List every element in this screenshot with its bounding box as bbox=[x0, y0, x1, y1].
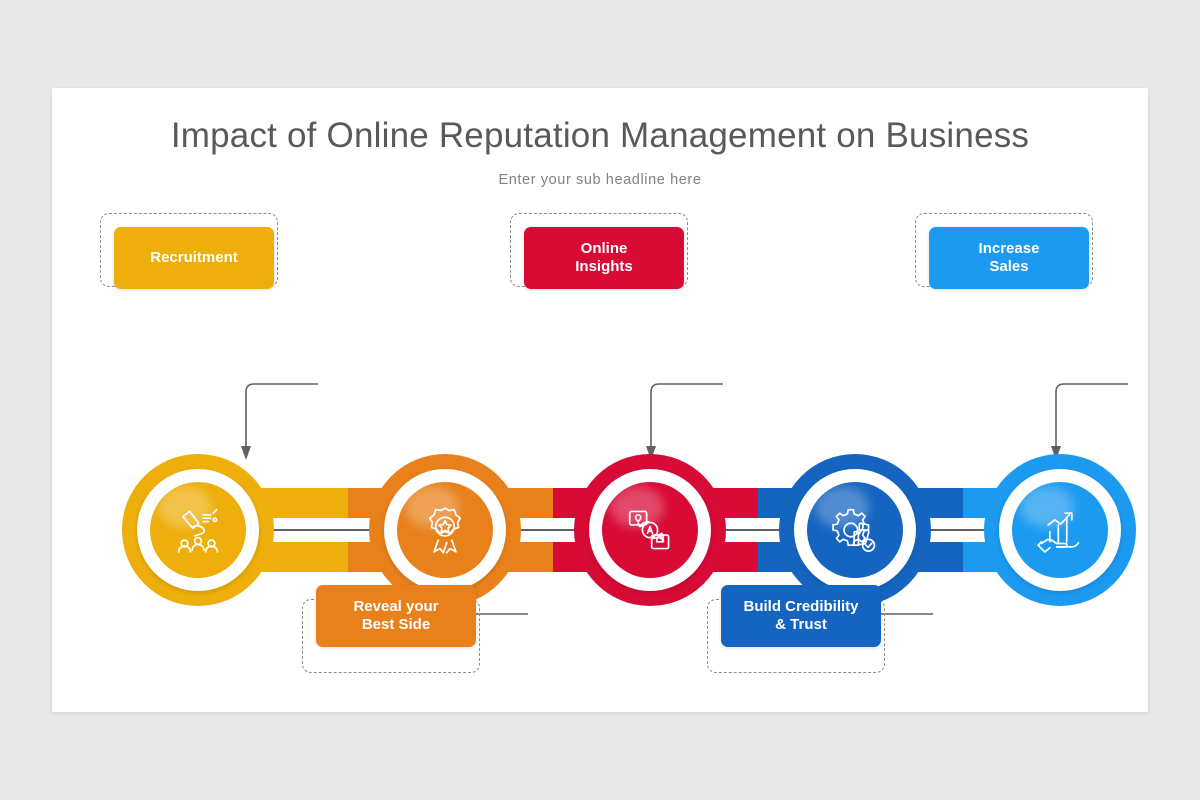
label-increase-sales[interactable]: Increase Sales bbox=[915, 213, 1105, 299]
label-line: Sales bbox=[979, 258, 1040, 276]
node-inner bbox=[1012, 482, 1108, 578]
node-inner bbox=[150, 482, 246, 578]
label-recruitment[interactable]: Recruitment bbox=[100, 213, 290, 299]
step-node-reveal-best-side[interactable] bbox=[369, 454, 521, 606]
award-ribbon-icon bbox=[397, 482, 493, 578]
step-node-build-credibility[interactable] bbox=[779, 454, 931, 606]
label-line: Reveal your bbox=[353, 598, 438, 616]
label-chip[interactable]: Build Credibility & Trust bbox=[721, 585, 881, 647]
step-node-increase-sales[interactable] bbox=[984, 454, 1136, 606]
step-node-recruitment[interactable] bbox=[122, 454, 274, 606]
label-line: Online bbox=[575, 240, 633, 258]
page-title: Impact of Online Reputation Management o… bbox=[52, 116, 1148, 156]
label-line: Build Credibility bbox=[743, 598, 858, 616]
label-chip[interactable]: Increase Sales bbox=[929, 227, 1089, 289]
label-line: Insights bbox=[575, 258, 633, 276]
insights-cards-cycle-icon bbox=[602, 482, 698, 578]
hand-growth-chart-icon bbox=[1012, 482, 1108, 578]
node-inner bbox=[602, 482, 698, 578]
label-chip[interactable]: Recruitment bbox=[114, 227, 274, 289]
label-line: & Trust bbox=[743, 616, 858, 634]
label-online-insights[interactable]: Online Insights bbox=[510, 213, 700, 299]
gear-thumbs-up-check-icon bbox=[807, 482, 903, 578]
step-node-online-insights[interactable] bbox=[574, 454, 726, 606]
label-line: Increase bbox=[979, 240, 1040, 258]
label-chip[interactable]: Online Insights bbox=[524, 227, 684, 289]
connector-increase-sales bbox=[1002, 380, 1132, 466]
label-reveal-best-side[interactable]: Reveal your Best Side bbox=[302, 585, 492, 671]
label-build-credibility[interactable]: Build Credibility & Trust bbox=[707, 585, 897, 671]
connector-recruitment bbox=[192, 380, 322, 466]
slide-canvas: Impact of Online Reputation Management o… bbox=[52, 88, 1148, 712]
hand-picking-person-icon bbox=[150, 482, 246, 578]
connector-online-insights bbox=[597, 380, 727, 466]
label-line: Recruitment bbox=[150, 249, 238, 267]
node-inner bbox=[397, 482, 493, 578]
label-line: Best Side bbox=[353, 616, 438, 634]
label-chip[interactable]: Reveal your Best Side bbox=[316, 585, 476, 647]
node-inner bbox=[807, 482, 903, 578]
page-subtitle: Enter your sub headline here bbox=[52, 172, 1148, 188]
